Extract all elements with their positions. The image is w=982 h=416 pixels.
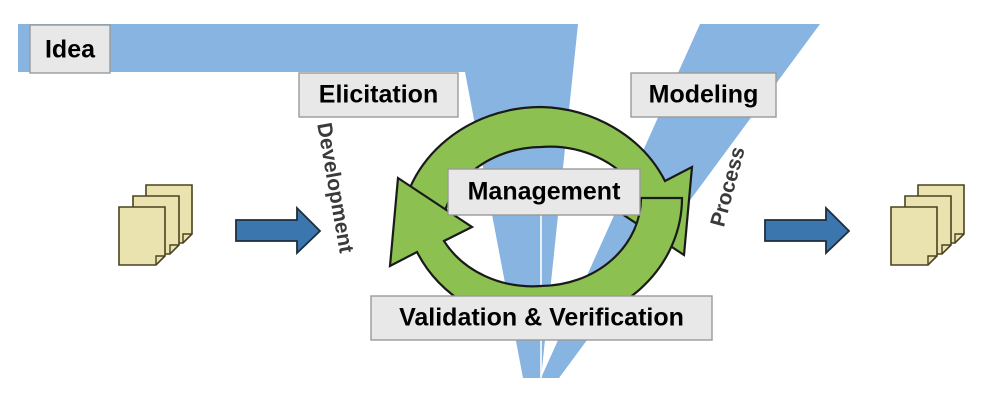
management-label-text: Management (468, 178, 621, 206)
input-flow-arrow-icon (236, 208, 320, 253)
label-box-validation-verification[interactable]: Validation & Verification (371, 296, 712, 340)
left-arm-axis-label: Development (312, 121, 358, 255)
output-flow-arrow-icon (765, 208, 849, 253)
output-document-stack (891, 185, 964, 265)
v-model-diagram: Development Process Idea Elicitation Mod… (0, 0, 982, 416)
elicitation-label-text: Elicitation (319, 81, 438, 109)
development-label-text: Development (312, 121, 358, 255)
input-document-stack (119, 185, 192, 265)
label-box-elicitation[interactable]: Elicitation (299, 73, 458, 117)
label-box-idea[interactable]: Idea (30, 25, 110, 73)
diagram-canvas: Development Process Idea Elicitation Mod… (0, 0, 982, 416)
idea-label-text: Idea (45, 36, 96, 64)
label-box-management[interactable]: Management (448, 169, 640, 215)
validation-verification-label-text: Validation & Verification (399, 304, 684, 332)
modeling-label-text: Modeling (649, 81, 759, 109)
label-box-modeling[interactable]: Modeling (631, 73, 776, 117)
